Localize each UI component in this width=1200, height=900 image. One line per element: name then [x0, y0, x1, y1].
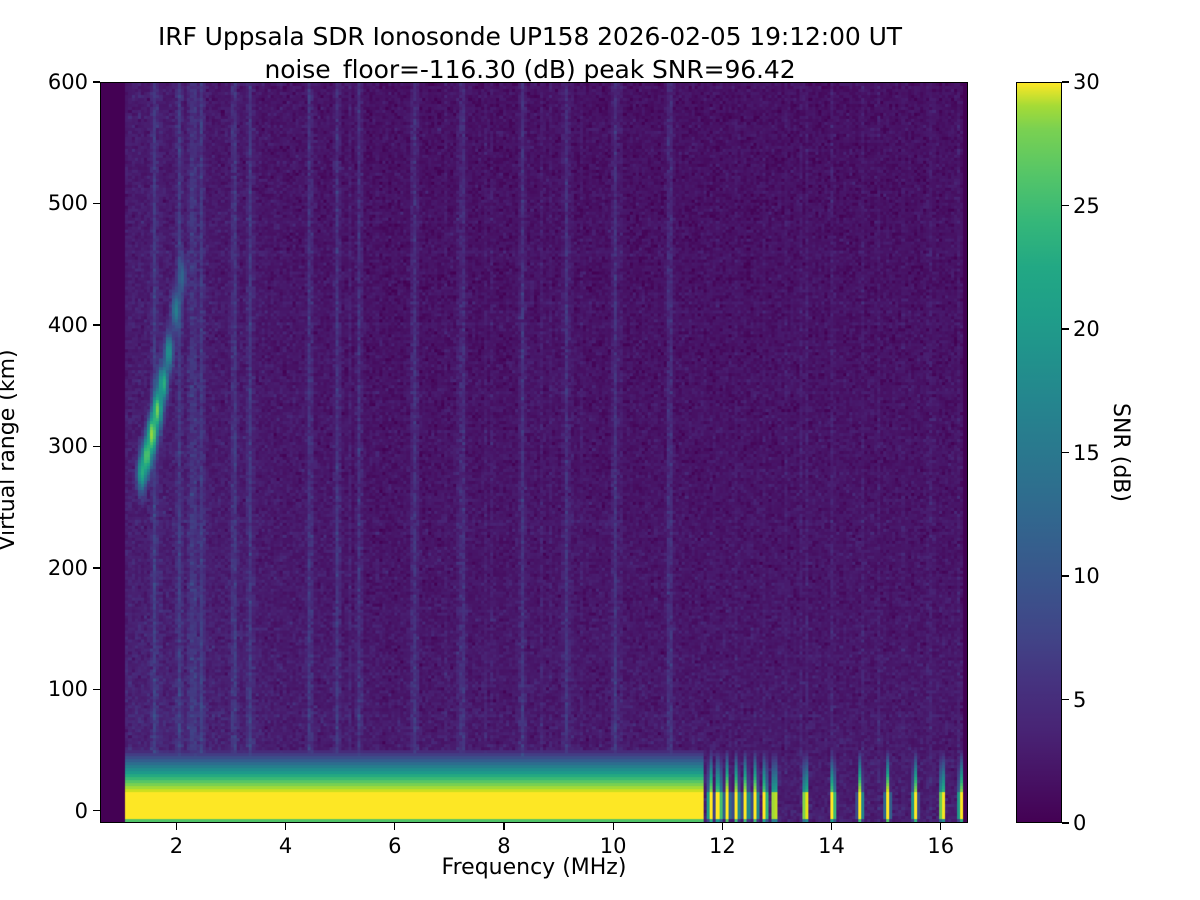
y-axis-title: Virtual range (km): [0, 0, 22, 900]
x-tick-mark: [613, 823, 614, 830]
y-tick-mark: [93, 689, 100, 690]
ionogram-figure: IRF Uppsala SDR Ionosonde UP158 2026-02-…: [0, 0, 1200, 900]
x-tick-mark: [176, 823, 177, 830]
x-tick-mark: [831, 823, 832, 830]
y-tick-mark: [93, 567, 100, 568]
x-tick-mark: [940, 823, 941, 830]
x-tick-mark: [394, 823, 395, 830]
colorbar[interactable]: [1016, 82, 1062, 823]
y-tick-label: 0: [75, 799, 88, 823]
y-tick-mark: [93, 810, 100, 811]
x-tick-mark: [285, 823, 286, 830]
colorbar-tick-label: 10: [1073, 564, 1100, 588]
colorbar-tick-mark: [1062, 205, 1069, 206]
y-axis-title-text: Virtual range (km): [0, 349, 20, 550]
y-tick-label: 400: [48, 313, 88, 337]
colorbar-tick-mark: [1062, 452, 1069, 453]
y-tick-label: 500: [48, 191, 88, 215]
ionogram-heatmap: [101, 83, 967, 822]
colorbar-tick-label: 15: [1073, 441, 1100, 465]
title-line-1: IRF Uppsala SDR Ionosonde UP158 2026-02-…: [158, 22, 902, 51]
colorbar-tick-mark: [1062, 822, 1069, 823]
colorbar-title: SNR (dB): [1107, 82, 1135, 823]
colorbar-tick-label: 20: [1073, 317, 1100, 341]
colorbar-tick-mark: [1062, 81, 1069, 82]
x-tick-mark: [503, 823, 504, 830]
colorbar-tick-mark: [1062, 575, 1069, 576]
figure-title: IRF Uppsala SDR Ionosonde UP158 2026-02-…: [0, 20, 1060, 86]
y-tick-mark: [93, 203, 100, 204]
y-tick-mark: [93, 324, 100, 325]
colorbar-tick-label: 25: [1073, 194, 1100, 218]
colorbar-title-text: SNR (dB): [1109, 403, 1134, 502]
y-tick-mark: [93, 446, 100, 447]
y-tick-label: 100: [48, 677, 88, 701]
colorbar-tick-label: 30: [1073, 70, 1100, 94]
x-axis-title: Frequency (MHz): [100, 855, 968, 880]
y-tick-label: 300: [48, 434, 88, 458]
ionogram-plot-area[interactable]: [100, 82, 968, 823]
colorbar-tick-label: 0: [1073, 811, 1086, 835]
y-tick-label: 600: [48, 70, 88, 94]
colorbar-tick-mark: [1062, 699, 1069, 700]
colorbar-tick-mark: [1062, 328, 1069, 329]
y-tick-mark: [93, 81, 100, 82]
colorbar-tick-label: 5: [1073, 688, 1086, 712]
y-tick-label: 200: [48, 556, 88, 580]
x-tick-mark: [722, 823, 723, 830]
